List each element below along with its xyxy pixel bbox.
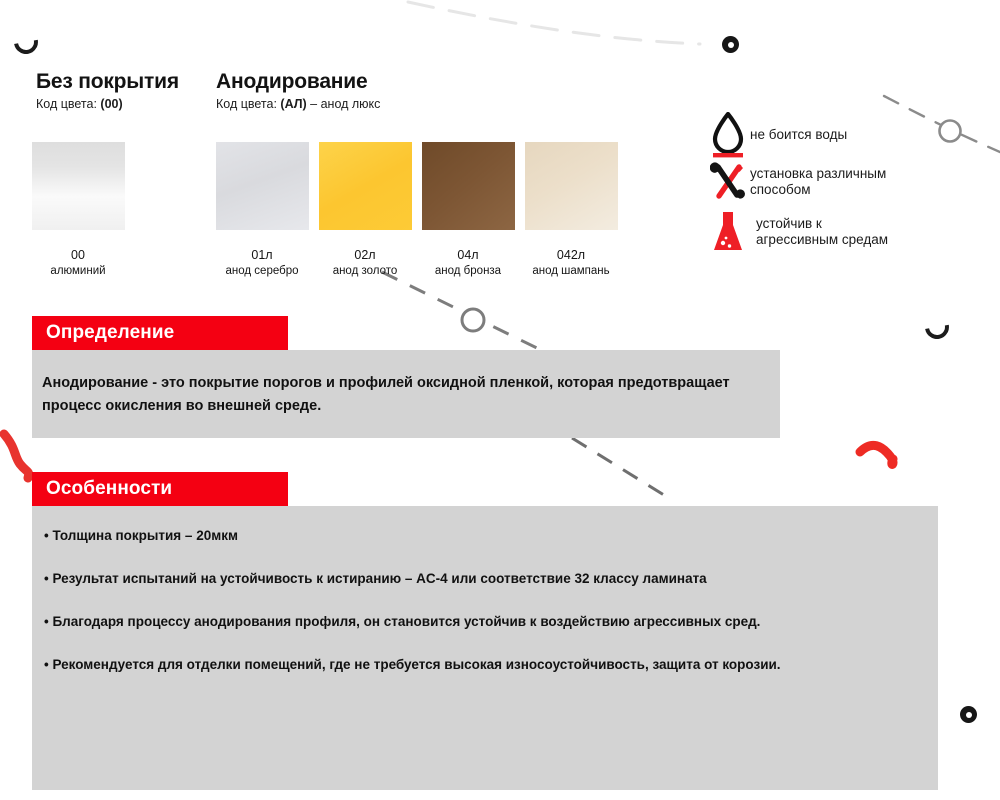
feature-bullet: • Результат испытаний на устойчивость к …: [44, 569, 914, 590]
legend-label: установка различным способом: [750, 166, 886, 198]
tools-icon: [706, 162, 750, 202]
column-subtitle: Код цвета: (00): [36, 97, 179, 111]
column-title: Анодирование: [216, 70, 380, 93]
swatch-name: анод серебро: [207, 264, 317, 279]
column-subtitle-prefix: Код цвета:: [216, 97, 280, 111]
feature-bullet: • Толщина покрытия – 20мкм: [44, 526, 914, 547]
swatch-caption-00: 00 алюминий: [23, 247, 133, 279]
legend-item-flask: устойчив к агрессивным средам: [706, 210, 888, 254]
swatch-name: алюминий: [23, 264, 133, 279]
swatch-name: анод шампань: [516, 264, 626, 279]
legend-label: устойчив к агрессивным средам: [756, 216, 888, 248]
swatch-code: 042л: [516, 247, 626, 264]
column-subtitle-code: (АЛ): [280, 97, 306, 111]
infographic-page: Без покрытия Код цвета: (00) Анодировани…: [0, 0, 1000, 800]
swatch-caption-02l: 02л анод золото: [310, 247, 420, 279]
swatch-code: 04л: [413, 247, 523, 264]
dashed-line-center: [382, 272, 545, 352]
crescent-mark-right: [920, 310, 953, 343]
features-tab[interactable]: Особенности: [32, 472, 288, 506]
features-list: • Толщина покрытия – 20мкм• Результат ис…: [32, 506, 938, 790]
feature-bullet: • Благодаря процессу анодирования профил…: [44, 612, 914, 633]
column-subtitle-code: (00): [100, 97, 122, 111]
column-subtitle-prefix: Код цвета:: [36, 97, 100, 111]
flask-icon: [706, 210, 750, 254]
swatch-name: анод золото: [310, 264, 420, 279]
swatch-04l[interactable]: [422, 142, 515, 230]
legend-item-water: не боится воды: [706, 112, 847, 158]
legend-item-tools: установка различным способом: [706, 162, 886, 202]
column-subtitle-suffix: – анод люкс: [307, 97, 381, 111]
feature-bullet: • Рекомендуется для отделки помещений, г…: [44, 655, 914, 676]
ring-center: [462, 309, 484, 331]
dashed-line-top: [408, 2, 700, 44]
swatch-01l[interactable]: [216, 142, 309, 230]
swatch-code: 01л: [207, 247, 317, 264]
definition-tab[interactable]: Определение: [32, 316, 288, 350]
donut-mark-top-right: [722, 36, 739, 53]
water-drop-icon: [706, 112, 750, 158]
legend-label: не боится воды: [750, 127, 847, 143]
swatch-02l[interactable]: [319, 142, 412, 230]
dashed-line-lower: [572, 438, 672, 500]
column-heading-uncoated: Без покрытия Код цвета: (00): [36, 70, 179, 111]
red-squiggle-left: [4, 434, 29, 478]
ring-upper-right: [940, 121, 961, 142]
swatch-caption-01l: 01л анод серебро: [207, 247, 317, 279]
swatch-code: 02л: [310, 247, 420, 264]
column-heading-anodized: Анодирование Код цвета: (АЛ) – анод люкс: [216, 70, 380, 111]
swatch-00[interactable]: [32, 142, 125, 230]
swatch-042l[interactable]: [525, 142, 618, 230]
column-subtitle: Код цвета: (АЛ) – анод люкс: [216, 97, 380, 111]
definition-text: Анодирование - это покрытие порогов и пр…: [32, 350, 780, 438]
red-squiggle-right: [860, 445, 893, 464]
dashed-line-upper-right: [884, 96, 1000, 152]
swatch-name: анод бронза: [413, 264, 523, 279]
swatch-caption-04l: 04л анод бронза: [413, 247, 523, 279]
swatch-caption-042l: 042л анод шампань: [516, 247, 626, 279]
donut-mark-bottom-right: [960, 706, 977, 723]
swatch-code: 00: [23, 247, 133, 264]
column-title: Без покрытия: [36, 70, 179, 93]
crescent-mark-top-left: [9, 25, 42, 58]
